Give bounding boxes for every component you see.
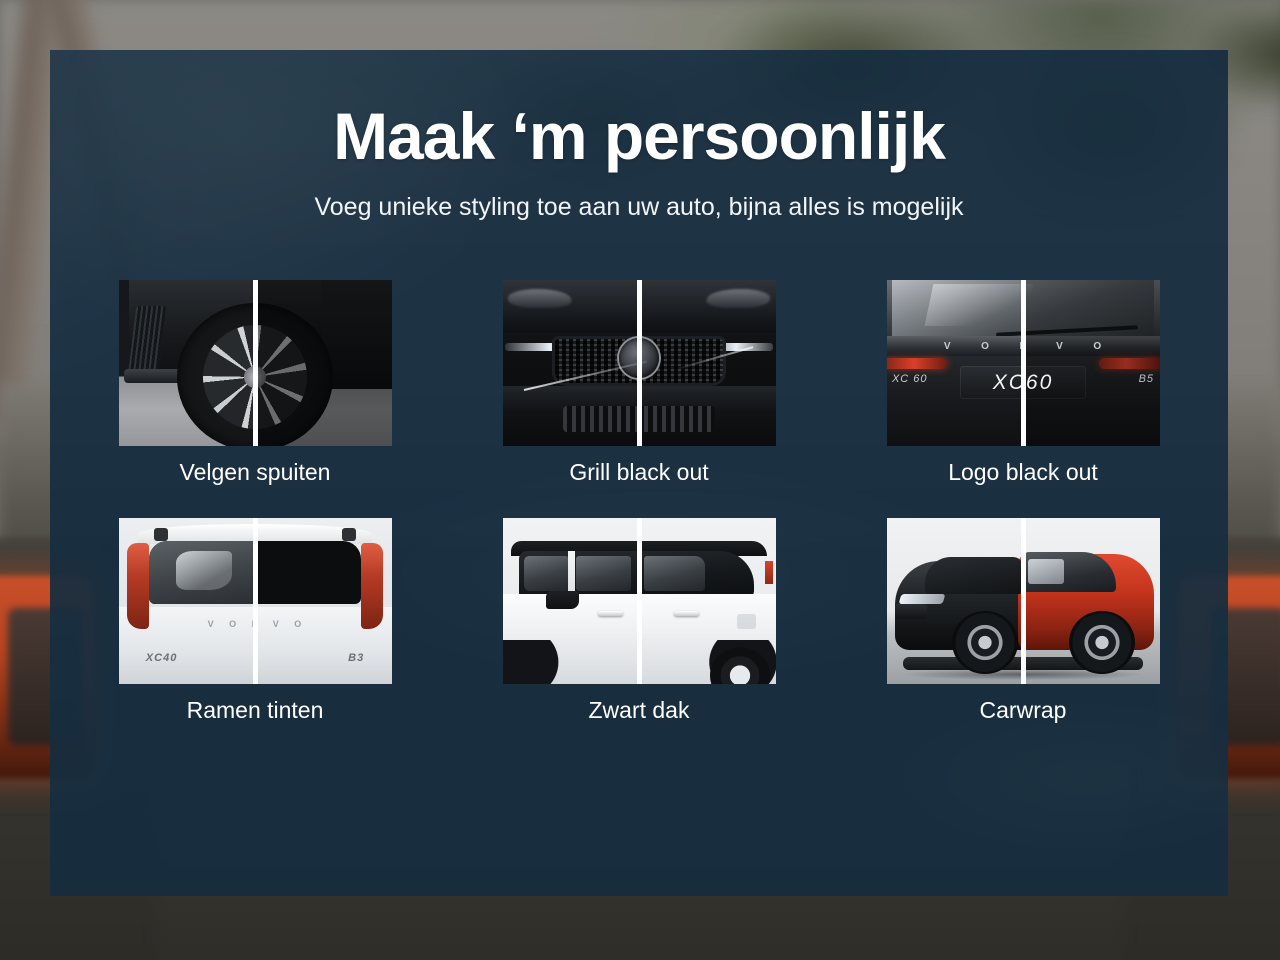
greenhouse-black-half: [925, 557, 1023, 594]
clear-rear-window: [149, 541, 255, 604]
taillight-left-shape: [127, 543, 149, 629]
volvo-letter: O: [229, 619, 237, 629]
volvo-letter: O: [981, 341, 990, 352]
option-label-carwrap: Carwrap: [887, 697, 1160, 724]
before-after-divider: [1021, 280, 1026, 446]
door-handle-rear: [674, 611, 699, 617]
front-grille-shape: [895, 604, 928, 619]
option-card-logo-black-out[interactable]: V O L V O XC60 XC 60 B5: [887, 280, 1160, 486]
side-mirror-shape: [546, 591, 579, 609]
volvo-letter: O: [1093, 341, 1102, 352]
door-handle-front: [598, 611, 623, 617]
option-label-velgen-spuiten: Velgen spuiten: [119, 459, 392, 486]
taillight-right-shape: [361, 543, 383, 629]
option-label-ramen-tinten: Ramen tinten: [119, 697, 392, 724]
after-state-overlay: [1023, 280, 1160, 446]
wheel-arch-front: [503, 640, 563, 683]
volvo-letter: V: [1056, 341, 1064, 352]
volvo-letter: V: [208, 619, 215, 629]
taillight-edge-shape: [765, 561, 773, 584]
front-door-window: [524, 556, 568, 591]
roof-rail-left: [154, 528, 168, 541]
option-card-zwart-dak[interactable]: Zwart dak: [503, 518, 776, 724]
volvo-letter: V: [273, 619, 280, 629]
taillight-left-shape: [887, 358, 947, 370]
option-thumbnail-velgen-spuiten[interactable]: [119, 280, 392, 446]
option-card-velgen-spuiten[interactable]: Velgen spuiten: [119, 280, 392, 486]
page-title: Maak ‘m persoonlijk: [50, 102, 1228, 171]
rear-wheel-shape: [1069, 611, 1135, 674]
after-state-overlay: [255, 280, 392, 446]
before-after-divider: [1021, 518, 1026, 684]
option-card-ramen-tinten[interactable]: V O L V O XC40 B3 Ramen tinten: [119, 518, 392, 724]
option-card-grill-black-out[interactable]: Grill black out: [503, 280, 776, 486]
model-badge-xc40: XC40: [146, 652, 178, 664]
page-subtitle: Voeg unieke styling toe aan uw auto, bij…: [50, 193, 1228, 222]
styling-overlay-panel: Maak ‘m persoonlijk Voeg unieke styling …: [50, 50, 1228, 896]
styling-options-grid: Velgen spuiten Grill black out: [50, 280, 1228, 724]
before-after-divider: [637, 518, 642, 684]
roof-rail-right: [342, 528, 356, 541]
option-thumbnail-ramen-tinten[interactable]: V O L V O XC40 B3: [119, 518, 392, 684]
volvo-letter: O: [294, 619, 302, 629]
option-thumbnail-grill-black-out[interactable]: [503, 280, 776, 446]
headlight-shape: [899, 594, 946, 604]
option-thumbnail-zwart-dak[interactable]: [503, 518, 776, 684]
option-thumbnail-carwrap[interactable]: [887, 518, 1160, 684]
rear-door-window: [576, 556, 631, 591]
front-wheel-shape: [952, 611, 1018, 674]
fuel-flap-shape: [737, 614, 756, 629]
volvo-letter: V: [944, 341, 952, 352]
powertrain-badge-b3: B3: [348, 652, 364, 664]
option-label-grill-black-out: Grill black out: [503, 459, 776, 486]
quarter-window: [644, 556, 704, 591]
side-badge-left: XC 60: [892, 373, 928, 385]
option-label-logo-black-out: Logo black out: [887, 459, 1160, 486]
before-after-divider: [253, 280, 258, 446]
side-badge-right: B5: [1139, 373, 1154, 385]
before-after-divider: [253, 518, 258, 684]
option-card-carwrap[interactable]: Carwrap: [887, 518, 1160, 724]
option-label-zwart-dak: Zwart dak: [503, 697, 776, 724]
door-window-shape: [1028, 559, 1063, 584]
before-after-divider: [637, 280, 642, 446]
option-thumbnail-logo-black-out[interactable]: V O L V O XC60 XC 60 B5: [887, 280, 1160, 446]
